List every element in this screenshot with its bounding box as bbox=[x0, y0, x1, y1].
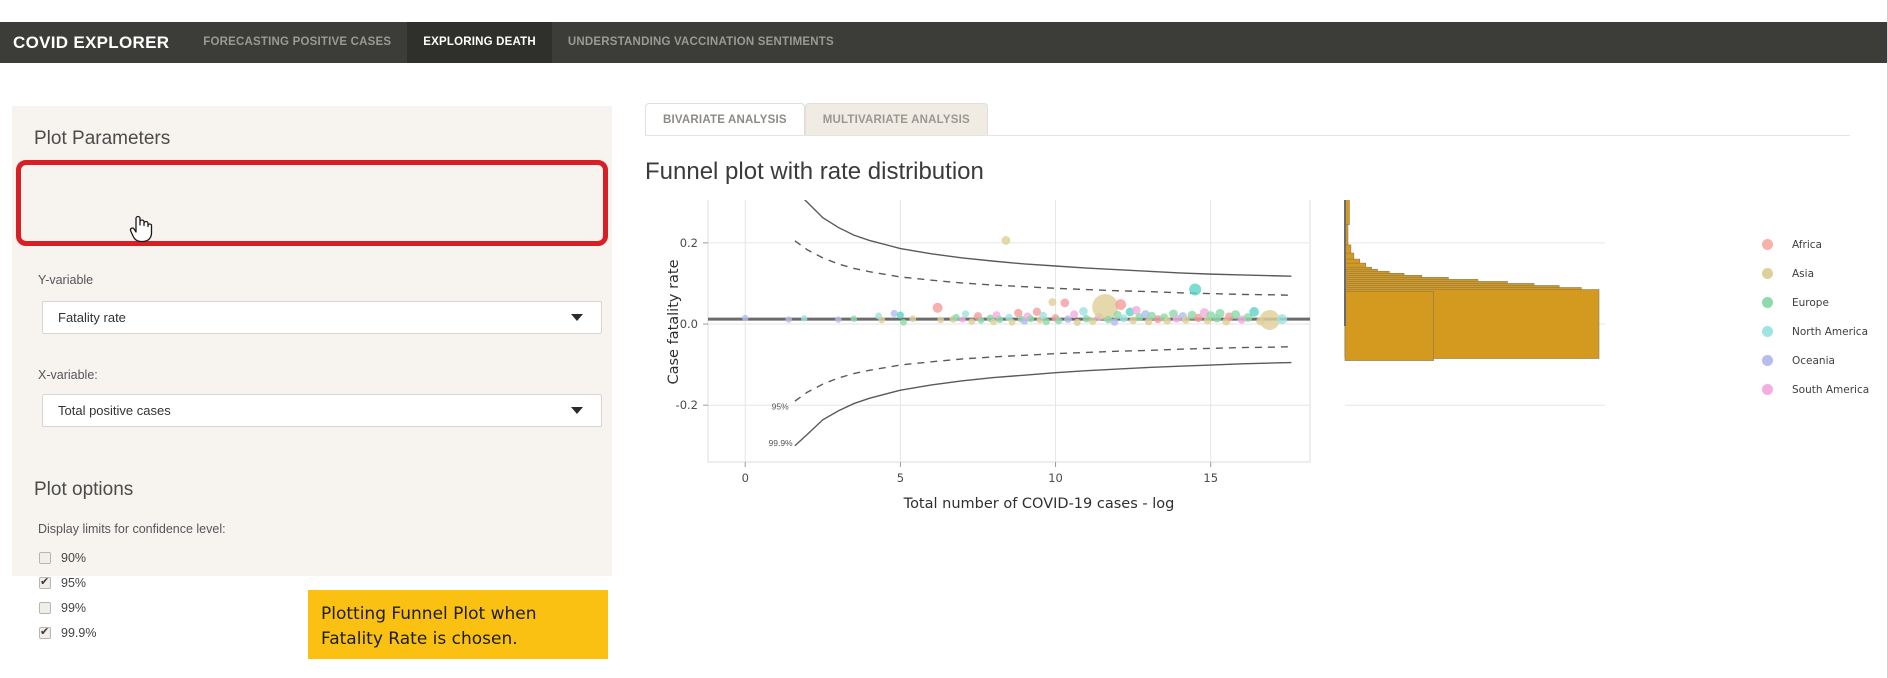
analysis-tabs: BIVARIATE ANALYSIS MULTIVARIATE ANALYSIS bbox=[645, 103, 988, 135]
x-tick-label: 5 bbox=[897, 471, 904, 485]
scatter-point bbox=[1260, 310, 1280, 330]
checkbox-row-90[interactable]: 90% bbox=[39, 551, 86, 565]
histogram-bar bbox=[1345, 292, 1434, 361]
band-annotation: 95% bbox=[772, 401, 789, 411]
band-annotation: 99.9% bbox=[769, 438, 794, 448]
scatter-point bbox=[933, 303, 943, 313]
scatter-point bbox=[1120, 314, 1128, 322]
legend-label-europe: Europe bbox=[1792, 297, 1829, 309]
scatter-point bbox=[990, 319, 997, 326]
top-navbar: COVID EXPLORER FORECASTING POSITIVE CASE… bbox=[0, 22, 1888, 63]
legend-label-oceania: Oceania bbox=[1792, 355, 1835, 367]
scatter-point bbox=[1079, 307, 1088, 316]
x-tick-label: 15 bbox=[1203, 471, 1218, 485]
scatter-point bbox=[1060, 299, 1069, 308]
legend-swatch-africa bbox=[1762, 239, 1773, 250]
legend-item-asia[interactable]: Asia bbox=[1762, 259, 1882, 288]
legend-item-europe[interactable]: Europe bbox=[1762, 288, 1882, 317]
scatter-point bbox=[1027, 315, 1034, 322]
tab-divider bbox=[645, 135, 1850, 136]
checkbox-row-99[interactable]: 99% bbox=[39, 601, 86, 615]
y-tick-label: -0.2 bbox=[676, 398, 698, 412]
x-variable-value: Total positive cases bbox=[43, 403, 571, 418]
scatter-point bbox=[1064, 315, 1072, 323]
scatter-point bbox=[1249, 307, 1259, 317]
scatter-point bbox=[1163, 317, 1171, 325]
checkbox-999-label: 99.9% bbox=[61, 626, 96, 640]
scatter-point bbox=[996, 316, 1003, 323]
scatter-point bbox=[1115, 299, 1126, 310]
plot-parameters-panel: Plot Parameters Y-variable Fatality rate… bbox=[12, 106, 612, 576]
nav-item-forecasting[interactable]: FORECASTING POSITIVE CASES bbox=[187, 22, 407, 63]
legend-item-africa[interactable]: Africa bbox=[1762, 230, 1882, 259]
legend-label-south-america: South America bbox=[1792, 384, 1869, 396]
scatter-point bbox=[835, 316, 841, 322]
y-variable-select[interactable]: Fatality rate bbox=[42, 301, 602, 334]
y-variable-value: Fatality rate bbox=[43, 310, 571, 325]
scatter-point bbox=[968, 318, 975, 325]
app-root: COVID EXPLORER FORECASTING POSITIVE CASE… bbox=[0, 0, 1888, 678]
checkbox-95-icon[interactable] bbox=[39, 577, 51, 589]
scatter-point bbox=[1043, 318, 1050, 325]
continent-legend: Africa Asia Europe North America Oceania… bbox=[1762, 230, 1882, 404]
callout-line-1: Plotting Funnel Plot when bbox=[321, 602, 608, 627]
scatter-point bbox=[851, 316, 857, 322]
scatter-point bbox=[1215, 309, 1224, 318]
legend-swatch-asia bbox=[1762, 268, 1773, 279]
legend-label-north-america: North America bbox=[1792, 326, 1868, 338]
nav-item-exploring-death[interactable]: EXPLORING DEATH bbox=[407, 22, 552, 63]
scatter-point bbox=[1055, 317, 1062, 324]
plot-options-subtitle: Display limits for confidence level: bbox=[38, 522, 226, 536]
y-tick-label: 0.0 bbox=[680, 317, 698, 331]
y-axis-label: Case fatality rate bbox=[666, 259, 682, 384]
chevron-down-icon bbox=[571, 407, 583, 414]
legend-item-south-america[interactable]: South America bbox=[1762, 375, 1882, 404]
y-variable-label: Y-variable bbox=[38, 273, 93, 287]
x-tick-label: 0 bbox=[742, 471, 749, 485]
legend-swatch-south-america bbox=[1762, 384, 1773, 395]
scatter-point bbox=[909, 315, 916, 322]
scatter-point bbox=[1001, 236, 1010, 245]
legend-swatch-europe bbox=[1762, 297, 1773, 308]
legend-label-asia: Asia bbox=[1792, 268, 1814, 280]
page-title: Funnel plot with rate distribution bbox=[645, 158, 984, 186]
checkbox-row-95[interactable]: 95% bbox=[39, 576, 86, 590]
scatter-point bbox=[953, 314, 960, 321]
scatter-point bbox=[1009, 319, 1016, 326]
checkbox-99-icon[interactable] bbox=[39, 602, 51, 614]
scatter-point bbox=[742, 315, 748, 321]
scatter-point bbox=[900, 319, 907, 326]
scatter-point bbox=[1111, 318, 1119, 326]
checkbox-95-label: 95% bbox=[61, 576, 86, 590]
scatter-point bbox=[1074, 319, 1081, 326]
nav-item-vaccination-sentiments[interactable]: UNDERSTANDING VACCINATION SENTIMENTS bbox=[552, 22, 850, 63]
scatter-point bbox=[897, 312, 904, 319]
checkbox-90-icon[interactable] bbox=[39, 552, 51, 564]
x-variable-select[interactable]: Total positive cases bbox=[42, 394, 602, 427]
funnel-plot-chart: 95%99.9%051015-0.20.00.2Total number of … bbox=[645, 200, 1850, 600]
scatter-point bbox=[801, 315, 807, 321]
callout-line-2: Fatality Rate is chosen. bbox=[321, 627, 608, 652]
scatter-point bbox=[891, 310, 898, 317]
legend-item-oceania[interactable]: Oceania bbox=[1762, 346, 1882, 375]
scatter-point bbox=[978, 317, 985, 324]
checkbox-99-label: 99% bbox=[61, 601, 86, 615]
legend-item-north-america[interactable]: North America bbox=[1762, 317, 1882, 346]
checkbox-999-icon[interactable] bbox=[39, 627, 51, 639]
legend-label-africa: Africa bbox=[1792, 239, 1822, 251]
scatter-point bbox=[937, 317, 944, 324]
annotation-callout: Plotting Funnel Plot when Fatality Rate … bbox=[308, 590, 608, 659]
scatter-point bbox=[1189, 284, 1201, 296]
x-tick-label: 10 bbox=[1048, 471, 1063, 485]
legend-swatch-north-america bbox=[1762, 326, 1773, 337]
x-variable-label: X-variable: bbox=[38, 368, 98, 382]
y-tick-label: 0.2 bbox=[680, 236, 698, 250]
scatter-point bbox=[1048, 298, 1056, 306]
x-axis-label: Total number of COVID-19 cases - log bbox=[903, 496, 1175, 512]
scatter-point bbox=[785, 316, 791, 322]
legend-swatch-oceania bbox=[1762, 355, 1773, 366]
checkbox-row-999[interactable]: 99.9% bbox=[39, 626, 96, 640]
scatter-point bbox=[1277, 314, 1287, 324]
scatter-point bbox=[878, 317, 885, 324]
panel-title: Plot Parameters bbox=[34, 128, 170, 150]
app-brand[interactable]: COVID EXPLORER bbox=[0, 33, 187, 53]
checkbox-90-label: 90% bbox=[61, 551, 86, 565]
tab-multivariate-analysis[interactable]: MULTIVARIATE ANALYSIS bbox=[805, 103, 988, 135]
tab-bivariate-analysis[interactable]: BIVARIATE ANALYSIS bbox=[645, 103, 805, 135]
plot-options-title: Plot options bbox=[34, 479, 133, 501]
chevron-down-icon bbox=[571, 314, 583, 321]
scatter-point bbox=[962, 310, 969, 317]
scatter-point bbox=[1070, 310, 1078, 318]
